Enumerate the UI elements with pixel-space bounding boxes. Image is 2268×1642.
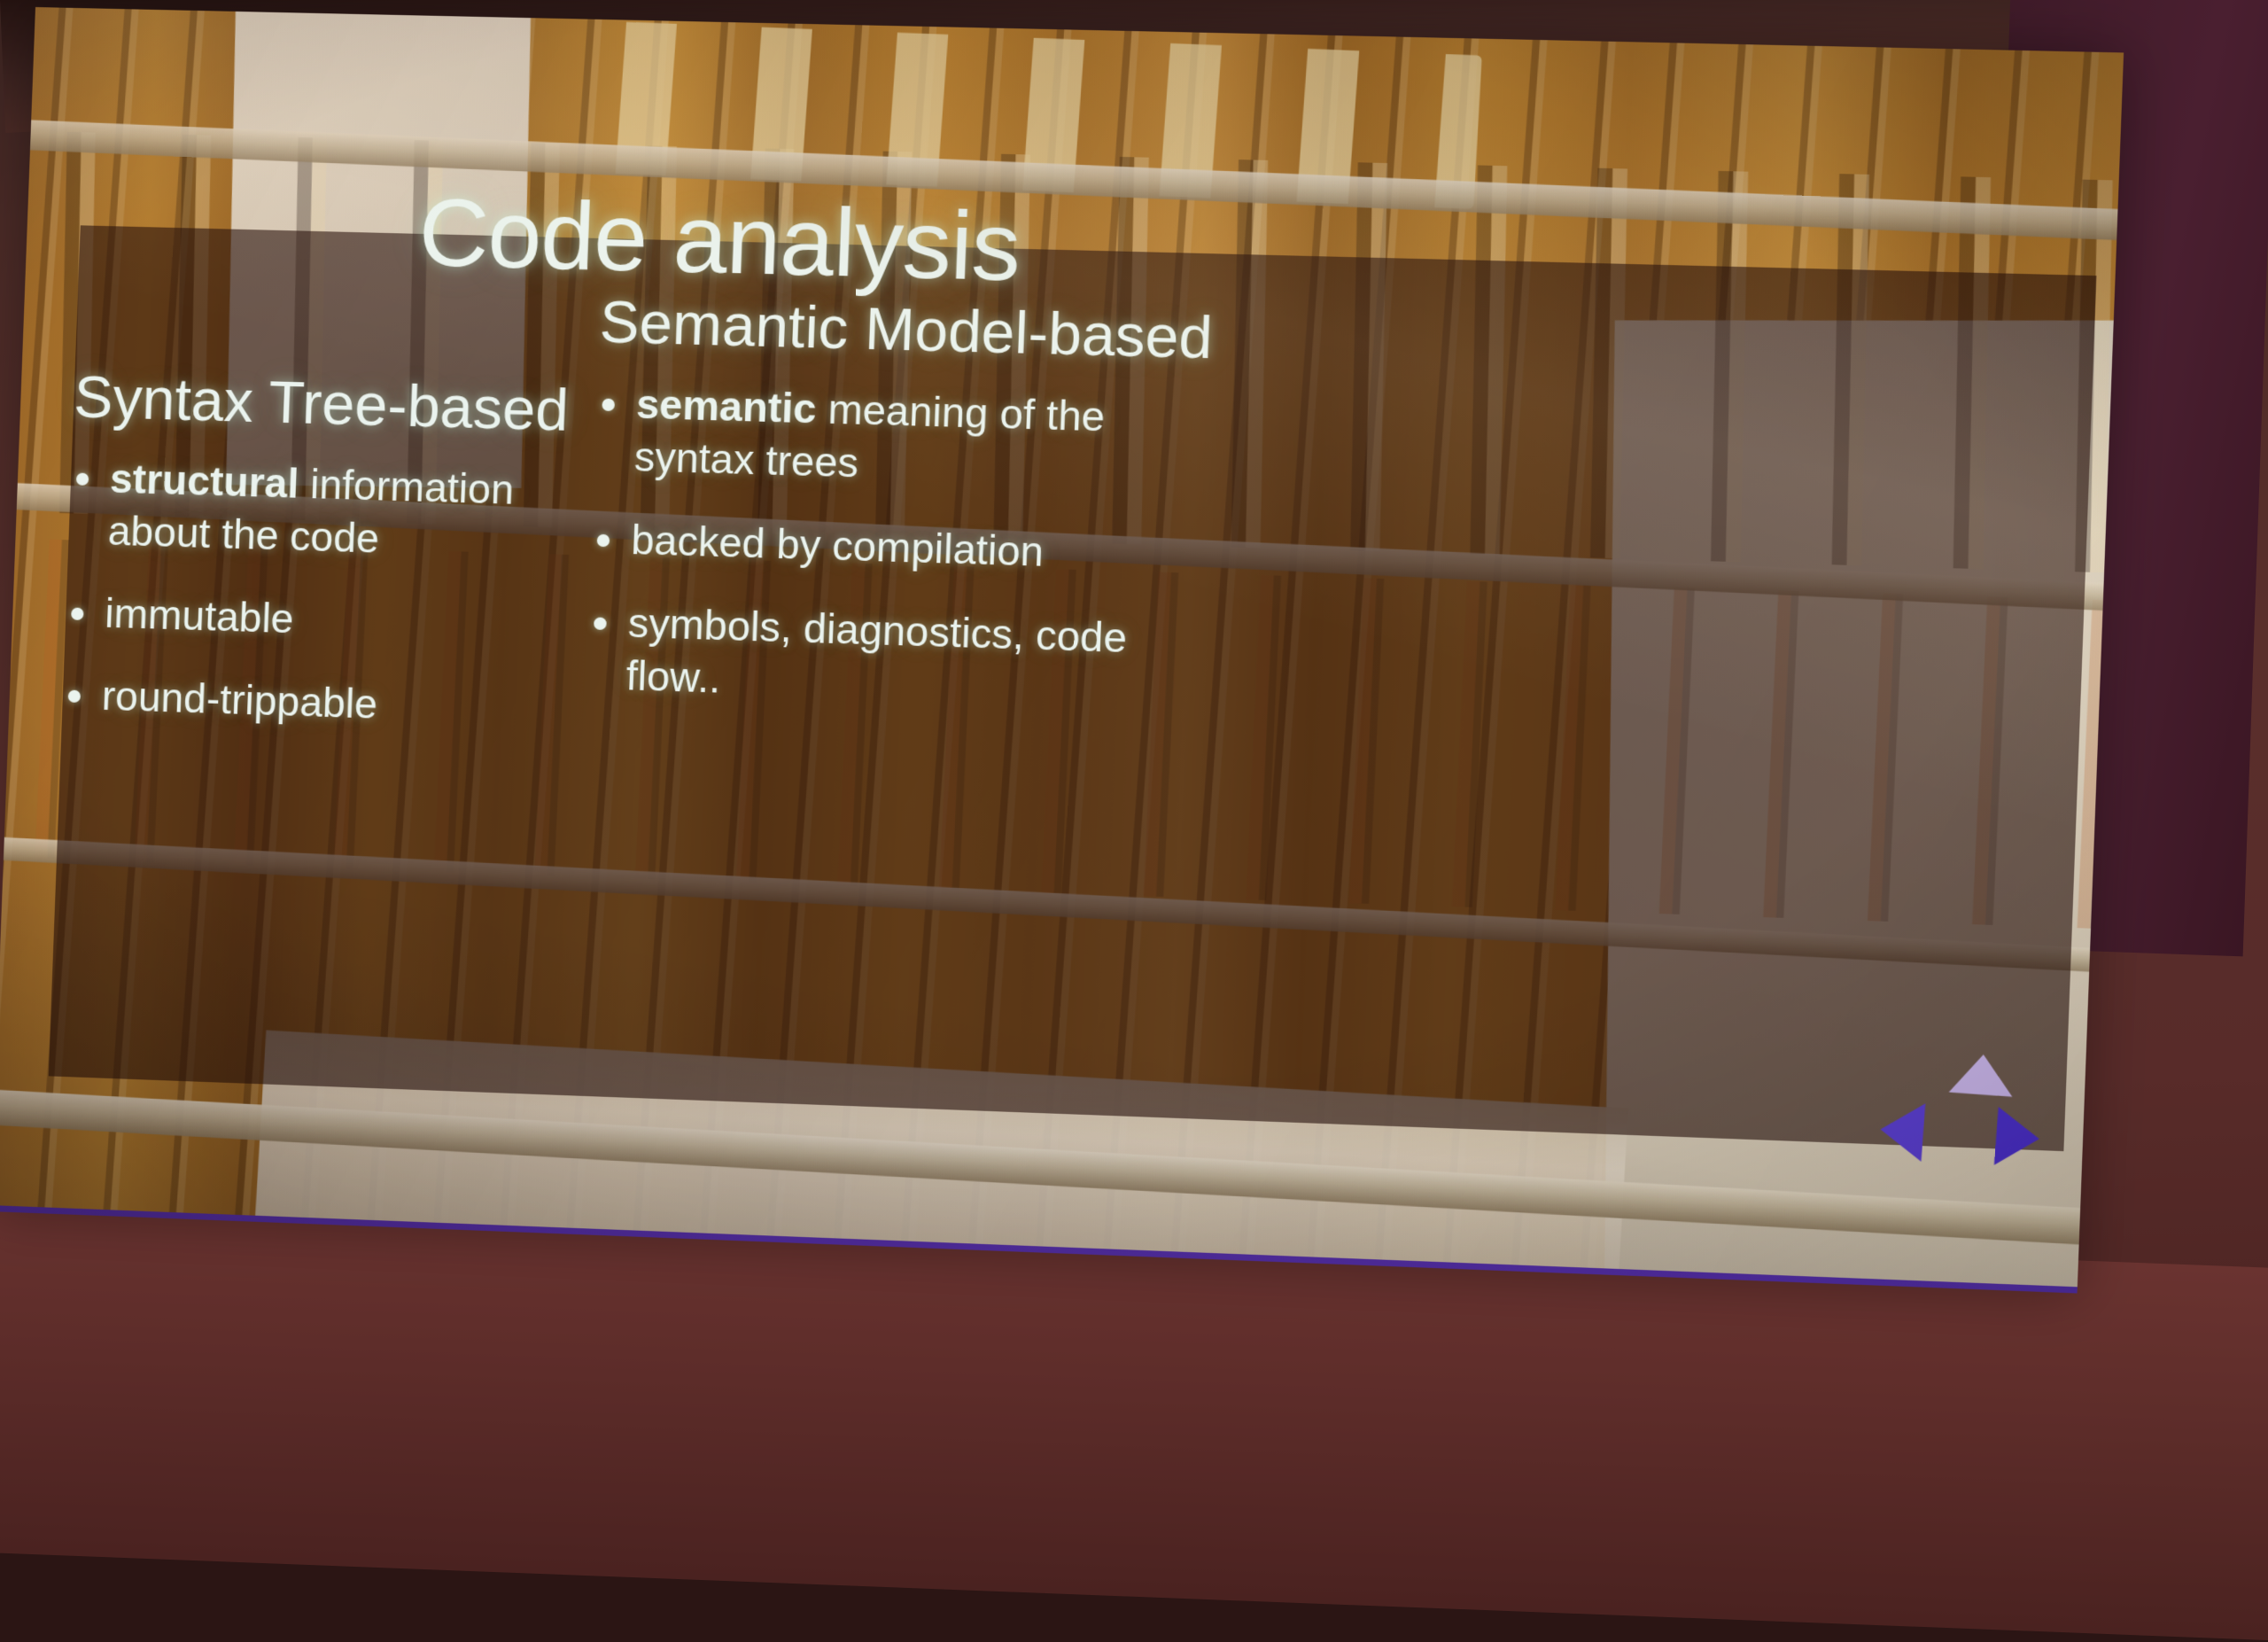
bullet-strong: structural	[109, 455, 299, 507]
column-syntax-tree: Syntax Tree-based structural information…	[61, 362, 602, 767]
column-heading-semantic-model: Semantic Model-based	[599, 287, 1237, 372]
projection-area: Code analysis Syntax Tree-based structur…	[0, 0, 2268, 1513]
triangle-up-icon[interactable]	[1949, 1053, 2016, 1097]
bullet-text: round-trippable	[101, 672, 378, 727]
bullet-item: structural information about the code	[68, 451, 599, 571]
bullet-list-syntax-tree: structural information about the code im…	[62, 451, 599, 737]
triangle-right-icon[interactable]	[1994, 1107, 2041, 1168]
bullet-list-semantic-model: semantic meaning of the syntax trees bac…	[586, 377, 1233, 720]
slide-navigation-arrows[interactable]	[1868, 1040, 2076, 1209]
bullet-item: backed by compilation	[591, 512, 1229, 584]
column-semantic-model: Semantic Model-based semantic meaning of…	[585, 287, 1237, 751]
bullet-item: semantic meaning of the syntax trees	[594, 377, 1233, 500]
presentation-slide[interactable]: Code analysis Syntax Tree-based structur…	[0, 7, 2124, 1294]
bullet-item: symbols, diagnostics, code flow..	[586, 595, 1225, 720]
bullet-text: immutable	[105, 589, 295, 642]
bullet-text: symbols, diagnostics, code flow..	[625, 599, 1128, 701]
bullet-strong: semantic	[635, 380, 817, 432]
slide-text-layer: Code analysis Syntax Tree-based structur…	[0, 7, 2124, 1294]
triangle-left-icon[interactable]	[1878, 1101, 1925, 1162]
slide-title: Code analysis	[417, 176, 1022, 303]
bullet-text: backed by compilation	[631, 516, 1045, 574]
bullet-item: immutable	[65, 586, 594, 654]
bullet-item: round-trippable	[62, 668, 591, 737]
column-heading-syntax-tree: Syntax Tree-based	[73, 362, 602, 445]
